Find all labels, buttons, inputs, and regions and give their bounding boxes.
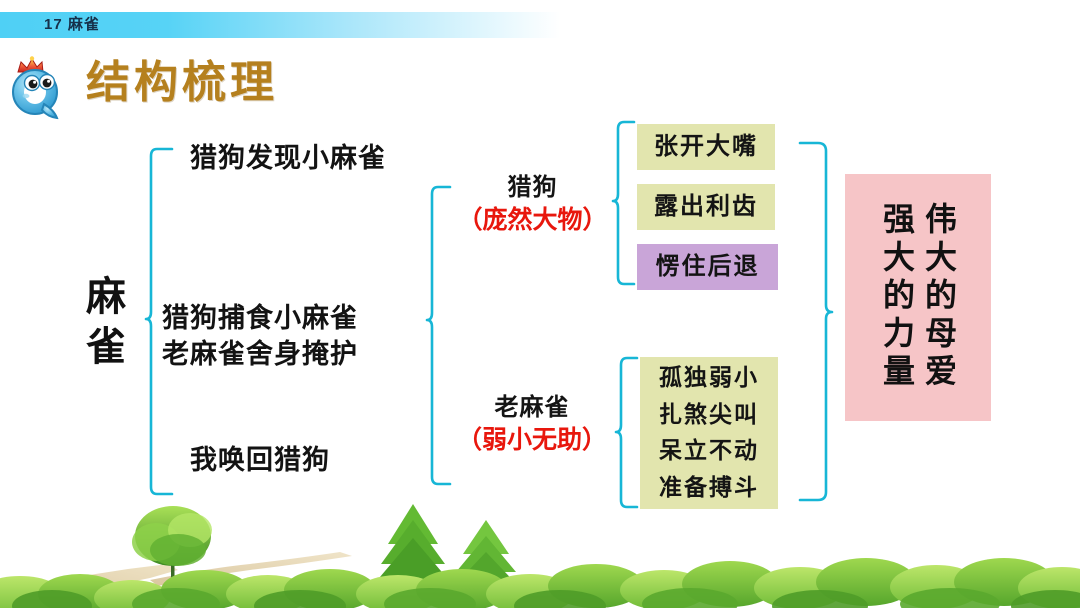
root-char-2: 雀: [76, 322, 136, 372]
page-title: 结构梳理: [86, 58, 278, 108]
chapter-label: 17 麻雀: [44, 13, 100, 37]
actor-dog: 猎狗 （庞然大物）: [450, 172, 615, 238]
stage-item-2-line-2: 老麻雀舍身掩护: [162, 336, 358, 372]
dog-action-box-1: 张开大嘴: [637, 124, 775, 170]
sparrow-action-line-1: 孤独弱小: [659, 363, 759, 393]
landscape-decoration: [0, 490, 1080, 608]
theme-column-1: 伟大的母爱: [921, 184, 957, 410]
dog-action-box-3: 愣住后退: [637, 244, 778, 290]
dog-action-box-2: 露出利齿: [637, 184, 775, 230]
sparrow-action-line-3: 呆立不动: [659, 436, 759, 466]
actor-sparrow: 老麻雀 （弱小无助）: [447, 392, 617, 458]
crowned-q-whale-mascot-icon: [6, 56, 68, 120]
theme-column-2: 强大的力量: [879, 184, 915, 410]
actor-sparrow-name: 老麻雀: [447, 392, 617, 424]
actor-dog-trait: （庞然大物）: [450, 204, 615, 238]
stage-item-3: 我唤回猎狗: [190, 442, 330, 478]
actor-sparrow-trait: （弱小无助）: [447, 424, 617, 458]
stage-item-1: 猎狗发现小麻雀: [190, 140, 386, 176]
sparrow-action-box: 孤独弱小 扎煞尖叫 呆立不动 准备搏斗: [640, 357, 778, 509]
root-char-1: 麻: [76, 272, 136, 322]
actor-dog-name: 猎狗: [450, 172, 615, 204]
theme-box: 伟大的母爱 强大的力量: [845, 174, 991, 421]
stage-item-2-line-1: 猎狗捕食小麻雀: [162, 300, 358, 336]
slide-canvas: 17 麻雀: [0, 0, 1080, 608]
stage-item-2: 猎狗捕食小麻雀 老麻雀舍身掩护: [162, 300, 358, 372]
sparrow-action-line-2: 扎煞尖叫: [659, 400, 759, 430]
root-label: 麻 雀: [76, 272, 136, 372]
